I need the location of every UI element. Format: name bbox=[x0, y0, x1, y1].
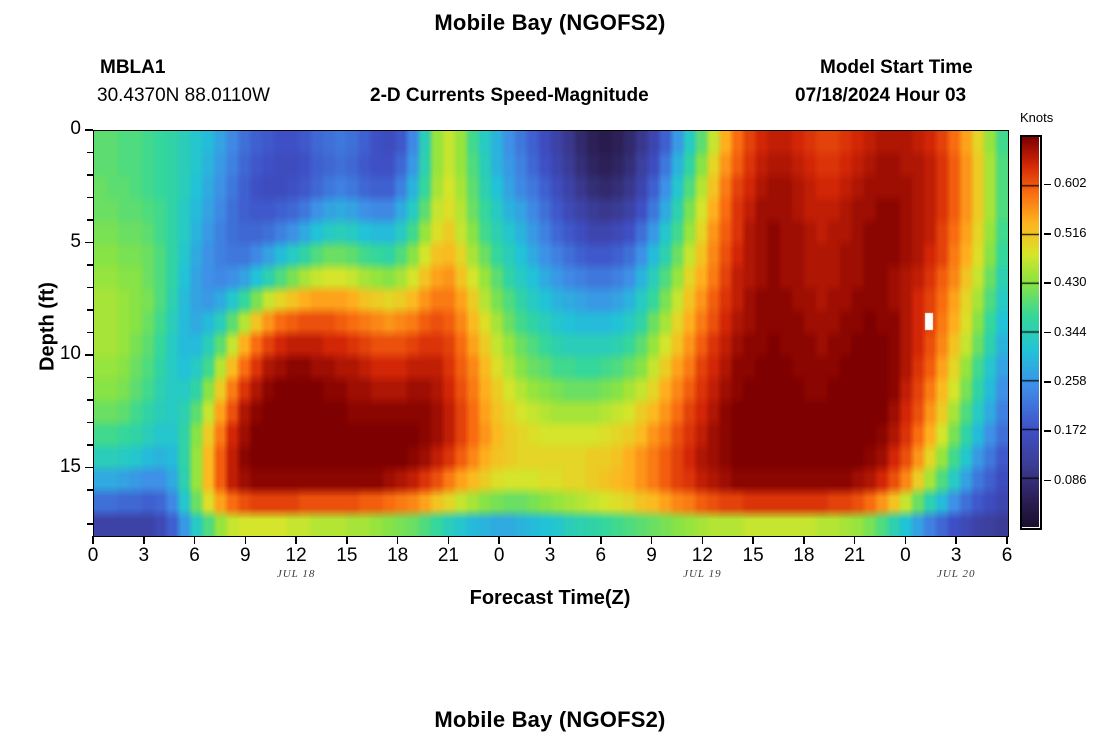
y-axis-tick-label: 15 bbox=[41, 456, 81, 478]
y-axis-minor-tick bbox=[87, 444, 93, 446]
y-axis-minor-tick bbox=[87, 422, 93, 424]
x-axis-tick bbox=[448, 536, 450, 544]
x-axis-tick bbox=[600, 536, 602, 544]
y-axis-tick bbox=[85, 354, 93, 356]
x-axis-tick-label: 12 bbox=[682, 545, 722, 567]
colorbar-tick-label: 0.258 bbox=[1054, 373, 1087, 388]
x-axis-tick bbox=[651, 536, 653, 544]
x-axis-tick-label: 3 bbox=[936, 545, 976, 567]
x-axis-day-label: JUL 19 bbox=[657, 568, 747, 580]
colorbar-tick-label: 0.602 bbox=[1054, 175, 1087, 190]
y-axis-tick-label: 5 bbox=[41, 231, 81, 253]
x-axis-tick bbox=[803, 536, 805, 544]
colorbar-tick-label: 0.344 bbox=[1054, 324, 1087, 339]
colorbar-tick-label: 0.430 bbox=[1054, 274, 1087, 289]
colorbar-tick-label: 0.172 bbox=[1054, 422, 1087, 437]
x-axis-tick-label: 15 bbox=[733, 545, 773, 567]
colorbar-tick bbox=[1044, 282, 1051, 284]
x-axis-tick-label: 0 bbox=[885, 545, 925, 567]
x-axis-tick-label: 18 bbox=[378, 545, 418, 567]
x-axis-tick-label: 9 bbox=[225, 545, 265, 567]
x-axis-tick bbox=[245, 536, 247, 544]
colorbar-unit-label: Knots bbox=[1020, 110, 1053, 125]
y-axis-tick bbox=[85, 242, 93, 244]
x-axis-tick bbox=[194, 536, 196, 544]
footer-title: Mobile Bay (NGOFS2) bbox=[0, 707, 1100, 733]
y-axis-minor-tick bbox=[87, 489, 93, 491]
y-axis-minor-tick bbox=[87, 287, 93, 289]
y-axis-minor-tick bbox=[87, 174, 93, 176]
x-axis-tick-label: 6 bbox=[175, 545, 215, 567]
x-axis-tick-label: 3 bbox=[124, 545, 164, 567]
x-axis-tick bbox=[1006, 536, 1008, 544]
y-axis-minor-tick bbox=[87, 399, 93, 401]
y-axis-tick bbox=[85, 467, 93, 469]
x-axis-tick-label: 0 bbox=[479, 545, 519, 567]
x-axis-tick bbox=[752, 536, 754, 544]
y-axis-minor-tick bbox=[87, 152, 93, 154]
page-title: Mobile Bay (NGOFS2) bbox=[0, 10, 1100, 36]
colorbar-tick bbox=[1044, 184, 1051, 186]
x-axis-tick bbox=[702, 536, 704, 544]
x-axis-tick bbox=[346, 536, 348, 544]
x-axis-tick bbox=[143, 536, 145, 544]
x-axis-day-label: JUL 18 bbox=[251, 568, 341, 580]
y-axis-minor-tick bbox=[87, 377, 93, 379]
colorbar bbox=[1020, 135, 1042, 530]
y-axis-minor-tick bbox=[87, 309, 93, 311]
colorbar-tick bbox=[1044, 233, 1051, 235]
x-axis-tick-label: 21 bbox=[835, 545, 875, 567]
y-axis-tick bbox=[85, 129, 93, 131]
x-axis-tick bbox=[905, 536, 907, 544]
colorbar-gradient bbox=[1022, 137, 1039, 527]
y-axis-minor-tick bbox=[87, 219, 93, 221]
x-axis-tick-label: 18 bbox=[784, 545, 824, 567]
x-axis-tick-label: 6 bbox=[581, 545, 621, 567]
colorbar-tick bbox=[1044, 480, 1051, 482]
x-axis-tick bbox=[549, 536, 551, 544]
y-axis-minor-tick bbox=[87, 332, 93, 334]
colorbar-tick-label: 0.086 bbox=[1054, 472, 1087, 487]
colorbar-tick bbox=[1044, 381, 1051, 383]
x-axis-tick bbox=[397, 536, 399, 544]
heatmap-canvas bbox=[94, 131, 1008, 536]
x-axis-tick-label: 15 bbox=[327, 545, 367, 567]
y-axis-minor-tick bbox=[87, 264, 93, 266]
x-axis-tick-label: 9 bbox=[632, 545, 672, 567]
model-start-time-value: 07/18/2024 Hour 03 bbox=[795, 85, 966, 107]
x-axis-tick bbox=[92, 536, 94, 544]
x-axis-day-label: JUL 20 bbox=[911, 568, 1001, 580]
x-axis-tick-label: 0 bbox=[73, 545, 113, 567]
station-id-label: MBLA1 bbox=[100, 57, 165, 79]
y-axis-tick-label: 0 bbox=[41, 118, 81, 140]
chart-subtitle: 2-D Currents Speed-Magnitude bbox=[370, 85, 649, 107]
x-axis-title: Forecast Time(Z) bbox=[93, 587, 1007, 610]
x-axis-tick bbox=[854, 536, 856, 544]
model-start-time-label: Model Start Time bbox=[820, 57, 973, 79]
y-axis-title: Depth (ft) bbox=[37, 257, 60, 397]
x-axis-tick bbox=[955, 536, 957, 544]
x-axis-tick-label: 3 bbox=[530, 545, 570, 567]
y-axis-minor-tick bbox=[87, 197, 93, 199]
colorbar-tick-label: 0.516 bbox=[1054, 225, 1087, 240]
x-axis-tick bbox=[295, 536, 297, 544]
colorbar-tick bbox=[1044, 332, 1051, 334]
x-axis-tick-label: 6 bbox=[987, 545, 1027, 567]
colorbar-tick bbox=[1044, 430, 1051, 432]
station-coordinates-label: 30.4370N 88.0110W bbox=[97, 85, 270, 107]
x-axis-tick-label: 21 bbox=[428, 545, 468, 567]
heatmap-plot-area bbox=[93, 130, 1009, 537]
x-axis-tick bbox=[498, 536, 500, 544]
y-axis-minor-tick bbox=[87, 523, 93, 525]
x-axis-tick-label: 12 bbox=[276, 545, 316, 567]
